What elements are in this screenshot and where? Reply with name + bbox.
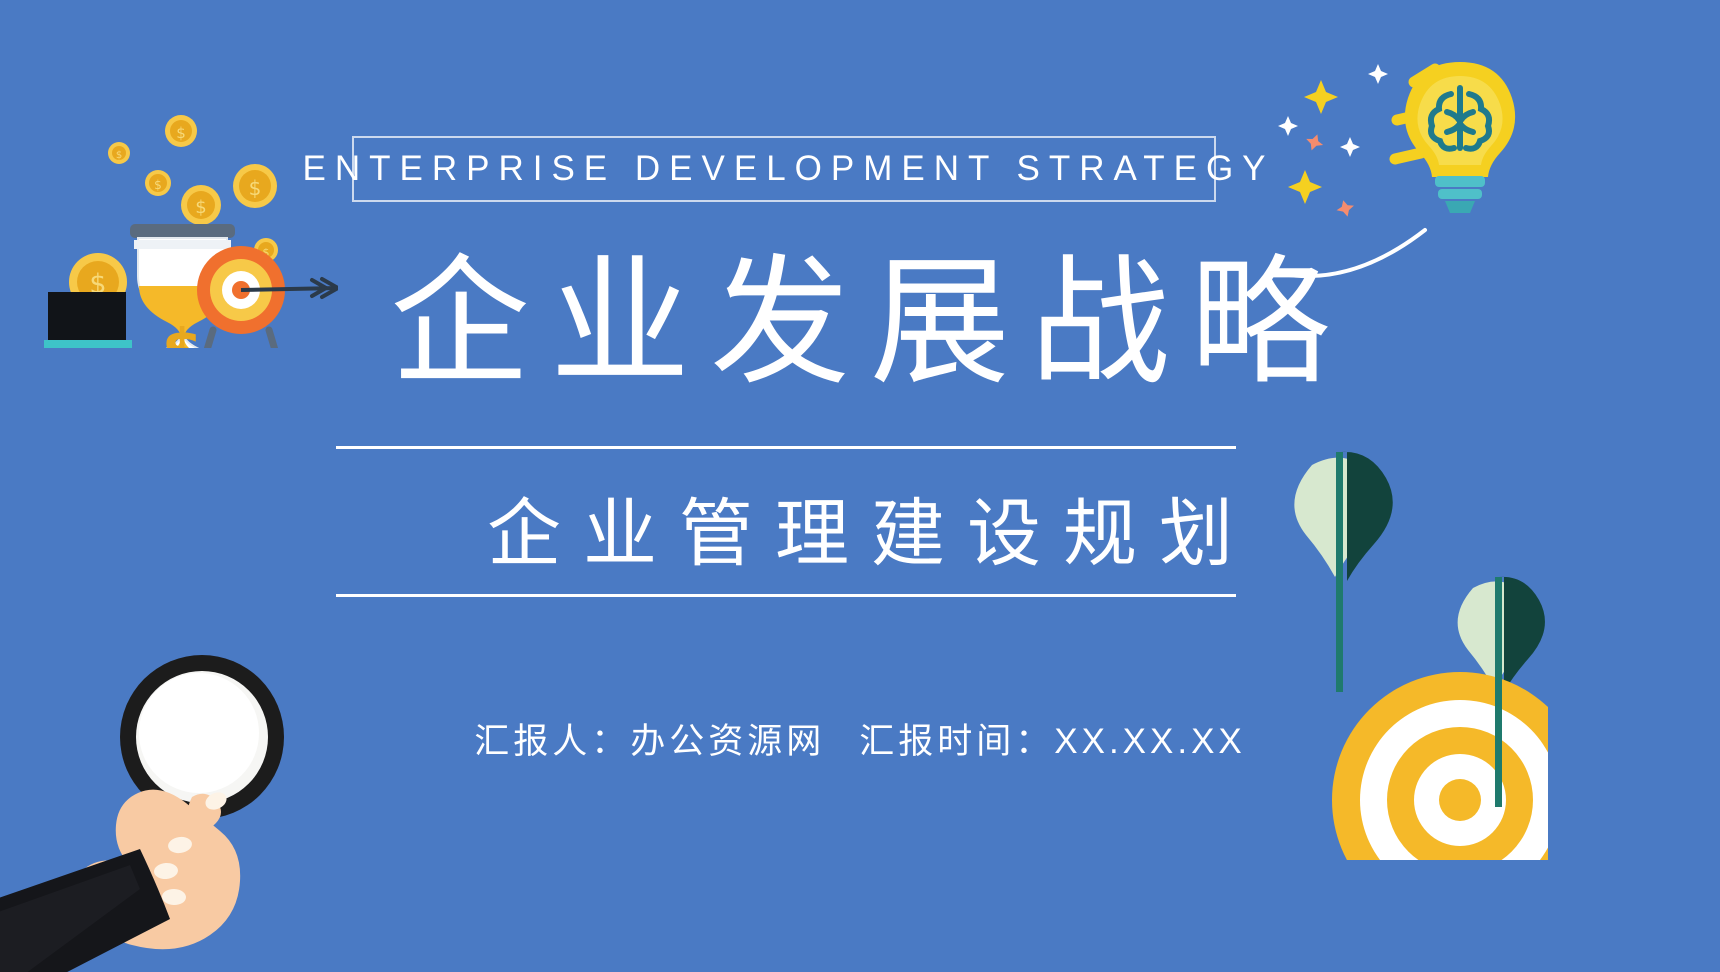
presenter-name: 办公资源网 [630,722,825,761]
english-title: ENTERPRISE DEVELOPMENT STRATEGY [294,149,1275,189]
slide-content: ENTERPRISE DEVELOPMENT STRATEGY 企业发展战略 企… [0,0,1720,972]
presenter-label: 汇报人： [474,722,630,761]
date-value: XX.XX.XX [1054,722,1246,761]
date-label: 汇报时间： [859,722,1054,761]
english-title-box: ENTERPRISE DEVELOPMENT STRATEGY [352,136,1216,202]
page-subtitle: 企业管理建设规划 [0,482,1720,586]
title-slide: $ $ $ $ $ $ $ [0,0,1720,972]
divider-top [336,446,1236,449]
footer-meta: 汇报人：办公资源网汇报时间：XX.XX.XX [0,713,1720,764]
divider-bottom [336,594,1236,597]
page-title: 企业发展战略 [0,248,1720,398]
